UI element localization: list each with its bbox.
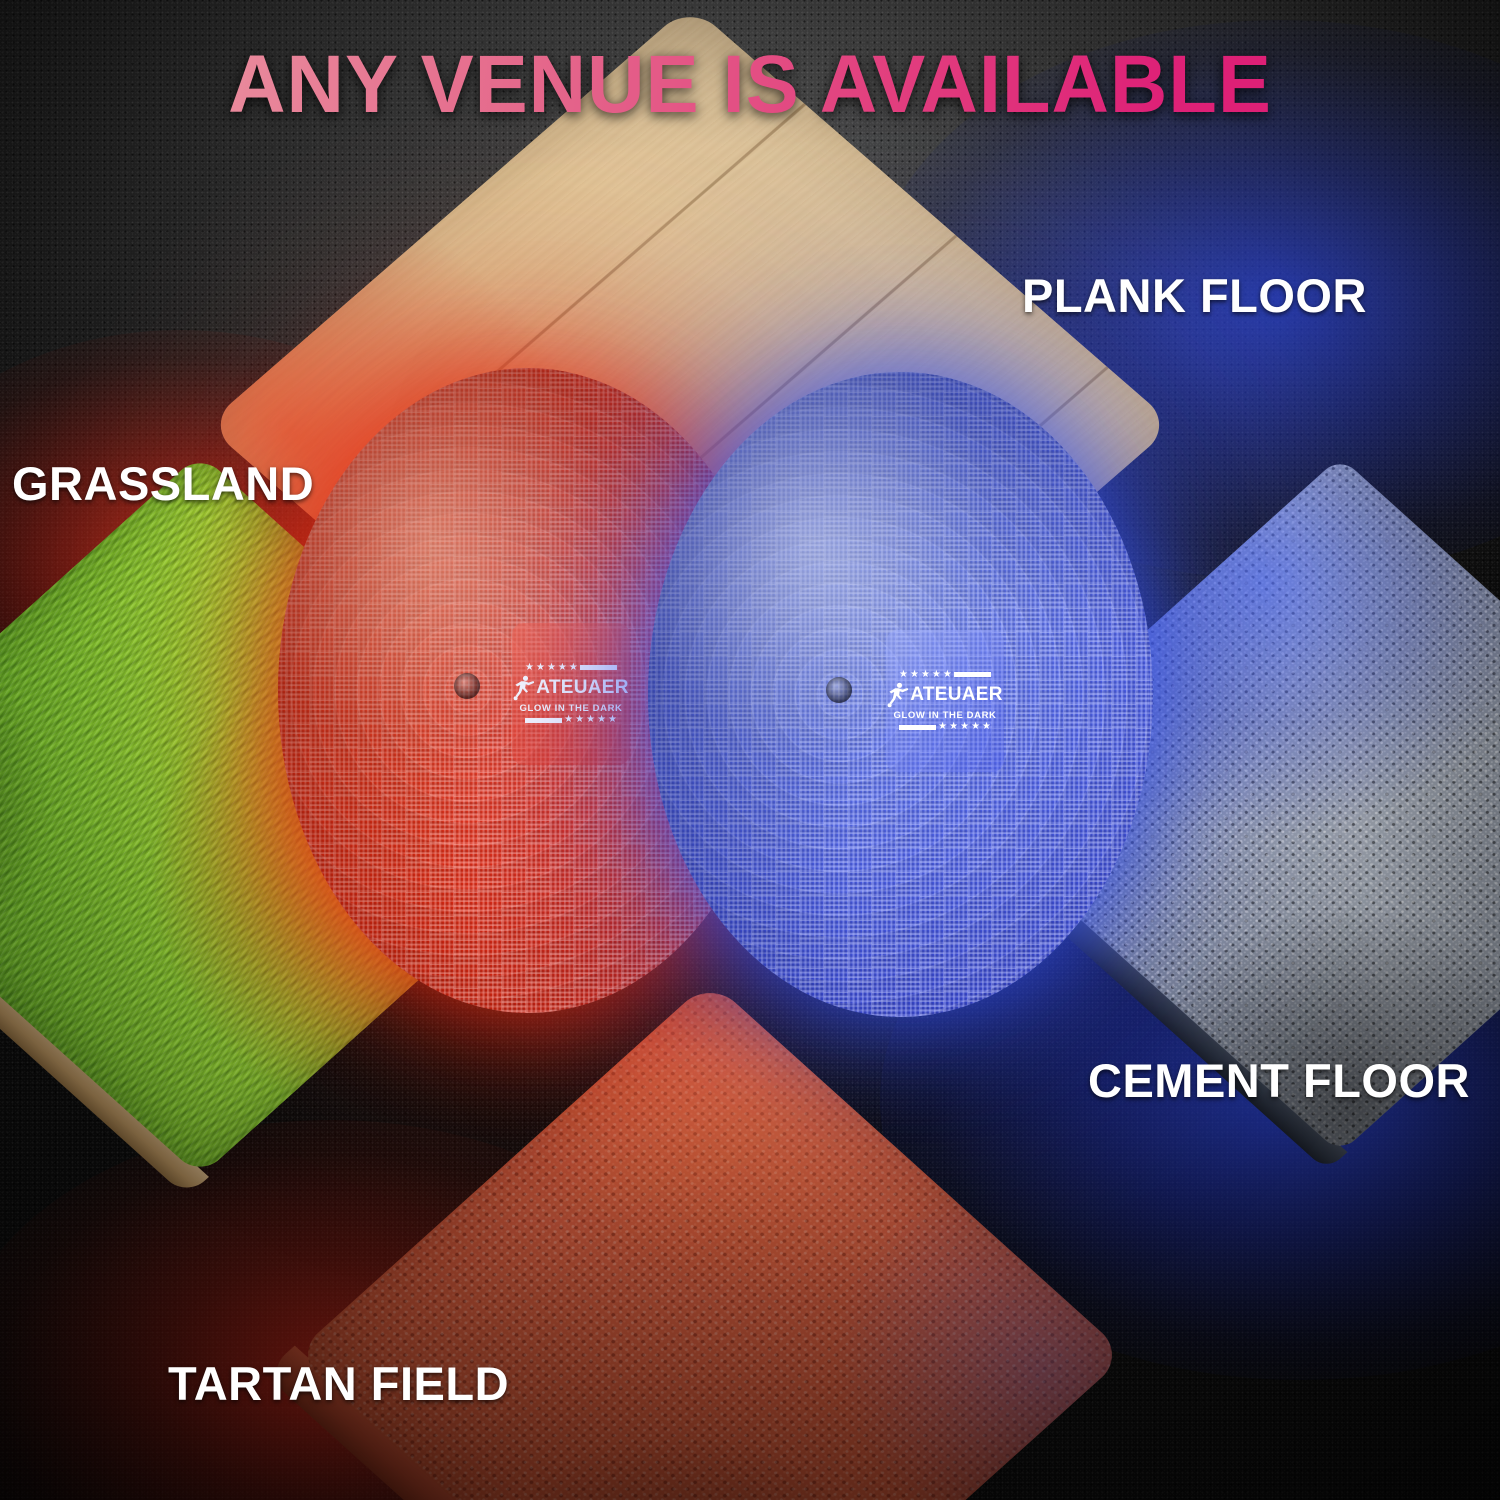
logo-star-row-top: ★ ★ ★ ★ ★ [525,664,617,672]
star-icon: ★ [547,664,556,672]
red-ball-valve-icon [454,673,480,699]
logo-bar [954,672,991,677]
brand-name: ATEUAER [910,685,1003,704]
red-ball-logo-patch: ★ ★ ★ ★ ★ ATEUAER GLOW IN THE DARK [512,623,630,765]
logo-bar [525,718,562,723]
logo-star-row-bottom: ★ ★ ★ ★ ★ [899,723,991,731]
surface-label-cement-floor: CEMENT FLOOR [1088,1053,1470,1108]
star-icon: ★ [536,664,545,672]
tartan-field-glow-tint [293,980,1126,1500]
star-icon: ★ [586,716,595,724]
blue-ball-logo-patch: ★ ★ ★ ★ ★ ATEUAER GLOW IN THE DARK [886,630,1004,772]
soccer-player-kicking-icon [513,675,535,701]
star-icon: ★ [597,716,606,724]
logo-brand-line: ATEUAER [513,675,629,701]
product-feature-image: ★ ★ ★ ★ ★ ATEUAER GLOW IN THE DARK [0,0,1500,1500]
star-icon: ★ [910,671,919,679]
soccer-player-kicking-icon [887,682,909,708]
logo-brand-line: ATEUAER [887,682,1003,708]
star-icon: ★ [949,723,958,731]
star-icon: ★ [575,716,584,724]
page-title: ANY VENUE IS AVAILABLE [23,38,1478,132]
logo-bar [580,665,617,670]
brand-name: ATEUAER [536,678,629,697]
logo-star-row-top: ★ ★ ★ ★ ★ [899,671,991,679]
star-icon: ★ [899,671,908,679]
logo-star-row-bottom: ★ ★ ★ ★ ★ [525,716,617,724]
star-icon: ★ [569,664,578,672]
logo-bar [899,725,936,730]
star-icon: ★ [971,723,980,731]
surface-label-grassland: GRASSLAND [12,456,314,511]
star-icon: ★ [938,723,947,731]
star-icon: ★ [608,716,617,724]
playground-ball-blue: ★ ★ ★ ★ ★ ATEUAER GLOW IN THE DARK [648,372,1153,1017]
star-icon: ★ [982,723,991,731]
blue-ball-valve-icon [826,677,852,703]
star-icon: ★ [921,671,930,679]
star-icon: ★ [564,716,573,724]
surface-label-plank-floor: PLANK FLOOR [1022,268,1367,323]
star-icon: ★ [525,664,534,672]
blue-ball-brand-logo: ★ ★ ★ ★ ★ ATEUAER GLOW IN THE DARK [886,630,1004,772]
star-icon: ★ [943,671,952,679]
brand-tagline: GLOW IN THE DARK [519,704,622,714]
surface-tile-tartan-field [293,980,1126,1500]
star-icon: ★ [558,664,567,672]
star-icon: ★ [960,723,969,731]
surface-label-tartan-field: TARTAN FIELD [168,1356,509,1411]
red-ball-brand-logo: ★ ★ ★ ★ ★ ATEUAER GLOW IN THE DARK [512,623,630,765]
star-icon: ★ [932,671,941,679]
brand-tagline: GLOW IN THE DARK [893,711,996,721]
